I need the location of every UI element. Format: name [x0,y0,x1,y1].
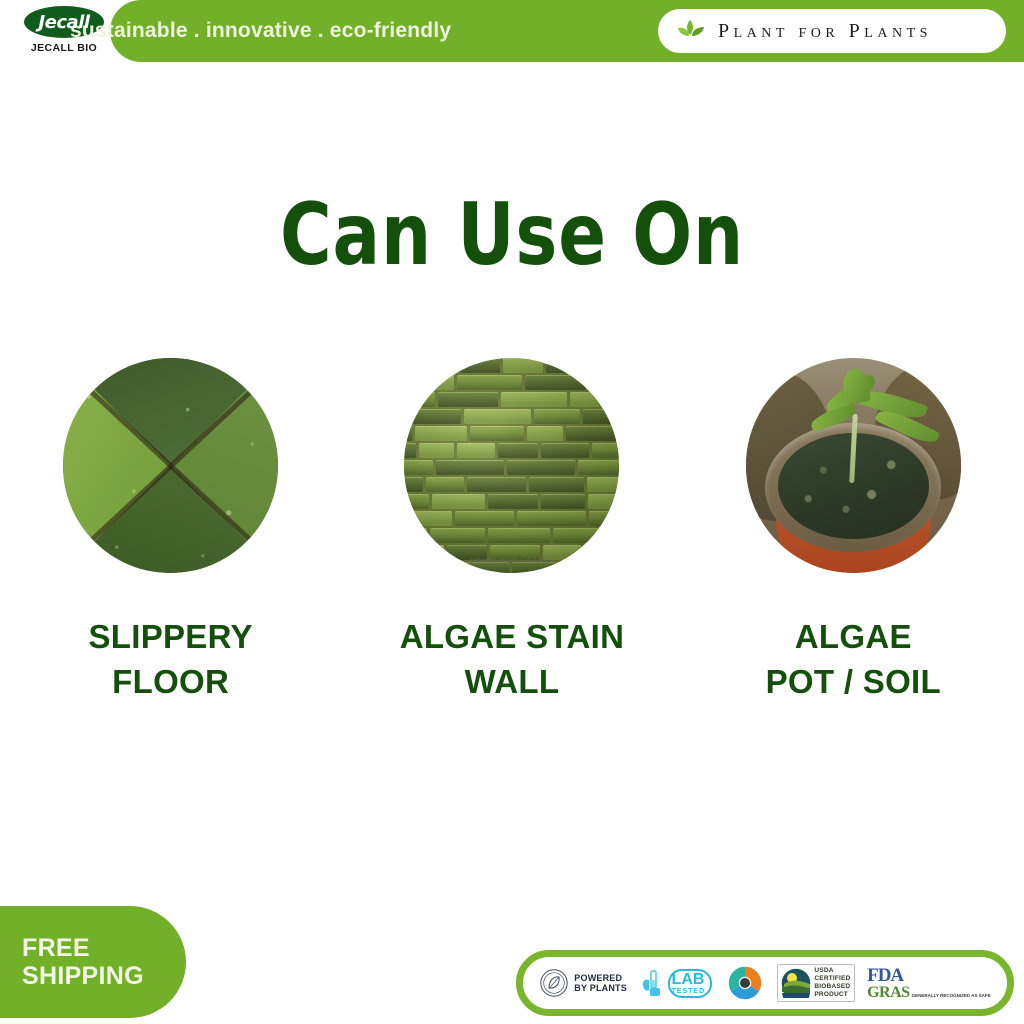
usecase-label-line1: ALGAE STAIN [400,615,625,660]
usecase-label-line1: SLIPPERY [88,615,252,660]
usecase-card-label: ALGAE POT / SOIL [766,615,941,704]
leaf-icon [674,16,708,46]
cert-line2: GRAS [867,985,909,1001]
mossy-paving-floor-photo [63,358,278,573]
certification-bar: POWERED BY PLANTS LAB TESTED [516,950,1014,1016]
cert-line1: USDA [814,967,850,975]
cert-line4: PRODUCT [814,991,850,999]
cert-line2: BY PLANTS [574,983,627,993]
usecase-label-line2: FLOOR [88,660,252,705]
cert-line1: FDA [867,966,903,985]
cert-line2: TESTED [672,988,706,995]
plant-for-plants-text: Plant for Plants [718,20,932,43]
usecase-card-label: ALGAE STAIN WALL [400,615,625,704]
header-tagline: sustainable . innovative . eco-friendly [70,0,451,62]
usecase-label-line1: ALGAE [766,615,941,660]
page-title: Can Use On [92,190,932,280]
plant-for-plants-logo[interactable]: Plant for Plants [658,9,1006,53]
cert-lab-tested: LAB TESTED [640,968,713,998]
mossy-brick-wall-photo: …rstock.com - 61872… [404,358,619,573]
cert-line3: BIOBASED [814,983,850,991]
usecase-label-line2: POT / SOIL [766,660,941,705]
usda-landscape-icon [781,968,811,998]
hand-test-tube-icon [640,968,666,998]
page-header: Jecall JECALL BIO sustainable . innovati… [0,0,1024,68]
cert-line2: CERTIFIED [814,975,850,983]
usecase-label-line2: WALL [400,660,625,705]
usecase-card-algae-pot-soil: ALGAE POT / SOIL [703,358,1003,704]
algae-covered-plant-pot-photo [746,358,961,573]
cert-line1: POWERED [574,973,627,983]
cert-fda-gras: FDA GRAS GENERALLY RECOGNIZED AS SAFE [867,966,991,1001]
cert-line3: GENERALLY RECOGNIZED AS SAFE [912,993,991,998]
free-shipping-line2: SHIPPING [22,962,186,990]
usecase-card-label: SLIPPERY FLOOR [88,615,252,704]
leaf-in-circle-icon [539,968,569,998]
recycle-lifecycle-wheel-icon [725,963,765,1003]
free-shipping-line1: FREE [22,934,186,962]
cert-line1: LAB [672,972,706,988]
usecase-card-slippery-floor: SLIPPERY FLOOR [21,358,321,704]
usecase-card-row: SLIPPERY FLOOR …rstock.com - 61872… ALGA… [0,358,1024,738]
stock-photo-watermark: …rstock.com - 61872… [459,556,564,567]
usecase-card-algae-stain-wall: …rstock.com - 61872… ALGAE STAIN WALL [362,358,662,704]
cert-lifecycle-wheel [725,963,765,1003]
free-shipping-badge: FREE SHIPPING [0,906,186,1018]
cert-usda-biobased: USDA CERTIFIED BIOBASED PRODUCT [777,964,854,1003]
cert-powered-by-plants: POWERED BY PLANTS [539,968,627,998]
